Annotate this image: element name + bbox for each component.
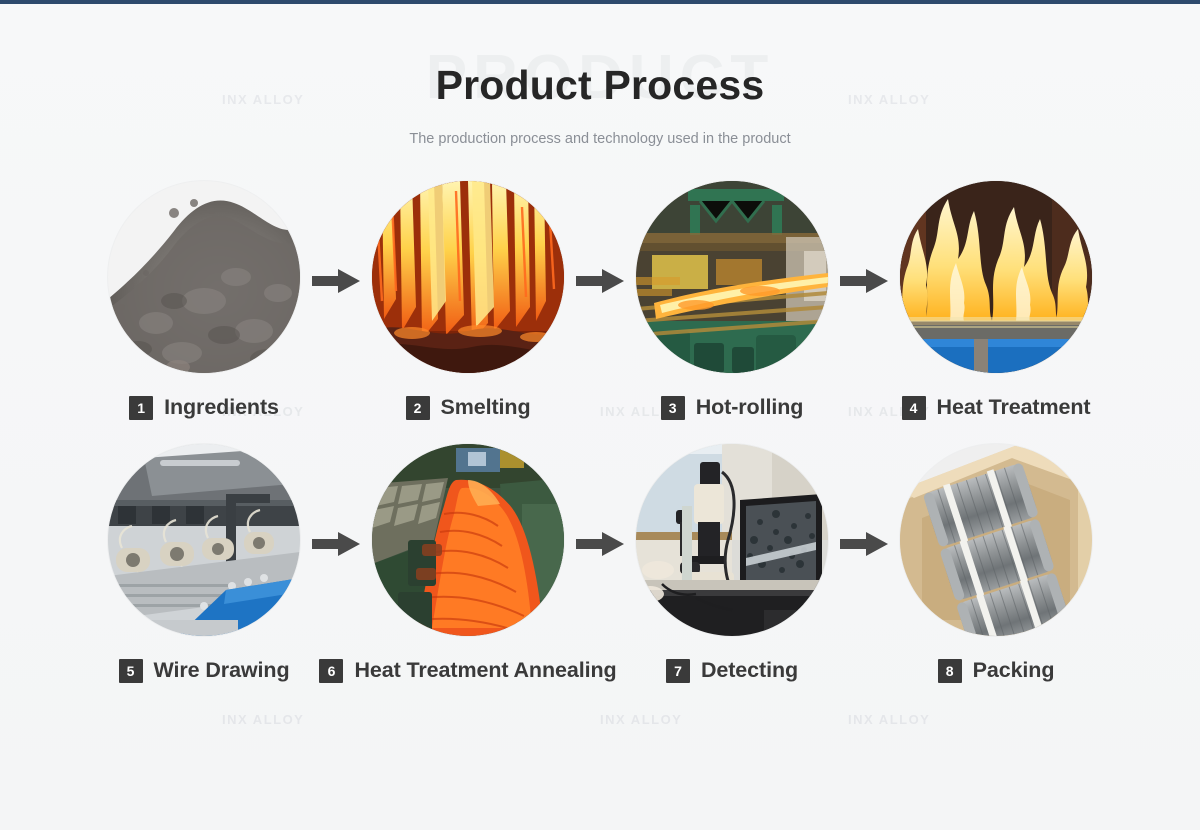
step-image-ingredients [108, 181, 300, 373]
product-process-page: PRODUCT INX ALLOY INX ALLOY INX ALLOY IN… [0, 0, 1200, 830]
process-step-4[interactable]: 4 Heat Treatment [900, 181, 1092, 420]
step-image-heat-treatment [900, 181, 1092, 373]
step-image-wire-drawing [108, 444, 300, 636]
process-step-6[interactable]: 6 Heat Treatment Annealing [372, 444, 564, 683]
step-name-8: Packing [973, 658, 1055, 683]
arrow-2-to-3 [564, 181, 636, 381]
process-step-3[interactable]: 3 Hot-rolling [636, 181, 828, 420]
step-number-badge-3: 3 [661, 396, 685, 420]
arrow-6-to-7 [564, 444, 636, 644]
process-step-2[interactable]: 2 Smelting [372, 181, 564, 420]
arrow-right-icon [574, 266, 626, 296]
process-row-1: 1 Ingredients [0, 181, 1200, 420]
process-row-2: 5 Wire Drawing [0, 444, 1200, 683]
step-name-7: Detecting [701, 658, 798, 683]
step-label-7: 7 Detecting [666, 658, 798, 683]
arrow-right-icon [310, 529, 362, 559]
watermark-small-8: INX ALLOY [848, 712, 930, 727]
step-name-6: Heat Treatment Annealing [354, 658, 616, 683]
arrow-5-to-6 [300, 444, 372, 644]
step-label-6: 6 Heat Treatment Annealing [319, 658, 616, 683]
page-subtitle: The production process and technology us… [0, 131, 1200, 147]
step-label-1: 1 Ingredients [129, 395, 279, 420]
step-image-detecting [636, 444, 828, 636]
page-header: Product Process The production process a… [0, 0, 1200, 147]
watermark-small-7: INX ALLOY [600, 712, 682, 727]
step-label-2: 2 Smelting [406, 395, 531, 420]
step-image-hot-rolling [636, 181, 828, 373]
step-name-2: Smelting [441, 395, 531, 420]
step-number-badge-4: 4 [902, 396, 926, 420]
process-step-1[interactable]: 1 Ingredients [108, 181, 300, 420]
arrow-7-to-8 [828, 444, 900, 644]
arrow-1-to-2 [300, 181, 372, 381]
step-number-badge-8: 8 [938, 659, 962, 683]
step-number-badge-5: 5 [119, 659, 143, 683]
process-step-5[interactable]: 5 Wire Drawing [108, 444, 300, 683]
step-label-3: 3 Hot-rolling [661, 395, 804, 420]
step-image-annealing [372, 444, 564, 636]
arrow-right-icon [838, 529, 890, 559]
step-name-3: Hot-rolling [696, 395, 804, 420]
watermark-small-6: INX ALLOY [222, 712, 304, 727]
page-title: Product Process [0, 62, 1200, 109]
step-name-4: Heat Treatment [937, 395, 1091, 420]
step-name-5: Wire Drawing [154, 658, 290, 683]
step-label-5: 5 Wire Drawing [119, 658, 290, 683]
arrow-right-icon [838, 266, 890, 296]
top-accent-rule [0, 0, 1200, 4]
step-image-packing [900, 444, 1092, 636]
step-number-badge-7: 7 [666, 659, 690, 683]
step-number-badge-1: 1 [129, 396, 153, 420]
process-steps-grid: 1 Ingredients [0, 181, 1200, 683]
step-image-smelting [372, 181, 564, 373]
arrow-3-to-4 [828, 181, 900, 381]
step-label-4: 4 Heat Treatment [902, 395, 1091, 420]
arrow-right-icon [574, 529, 626, 559]
process-step-8[interactable]: 8 Packing [900, 444, 1092, 683]
step-number-badge-6: 6 [319, 659, 343, 683]
step-name-1: Ingredients [164, 395, 279, 420]
arrow-right-icon [310, 266, 362, 296]
process-step-7[interactable]: 7 Detecting [636, 444, 828, 683]
step-number-badge-2: 2 [406, 396, 430, 420]
step-label-8: 8 Packing [938, 658, 1055, 683]
